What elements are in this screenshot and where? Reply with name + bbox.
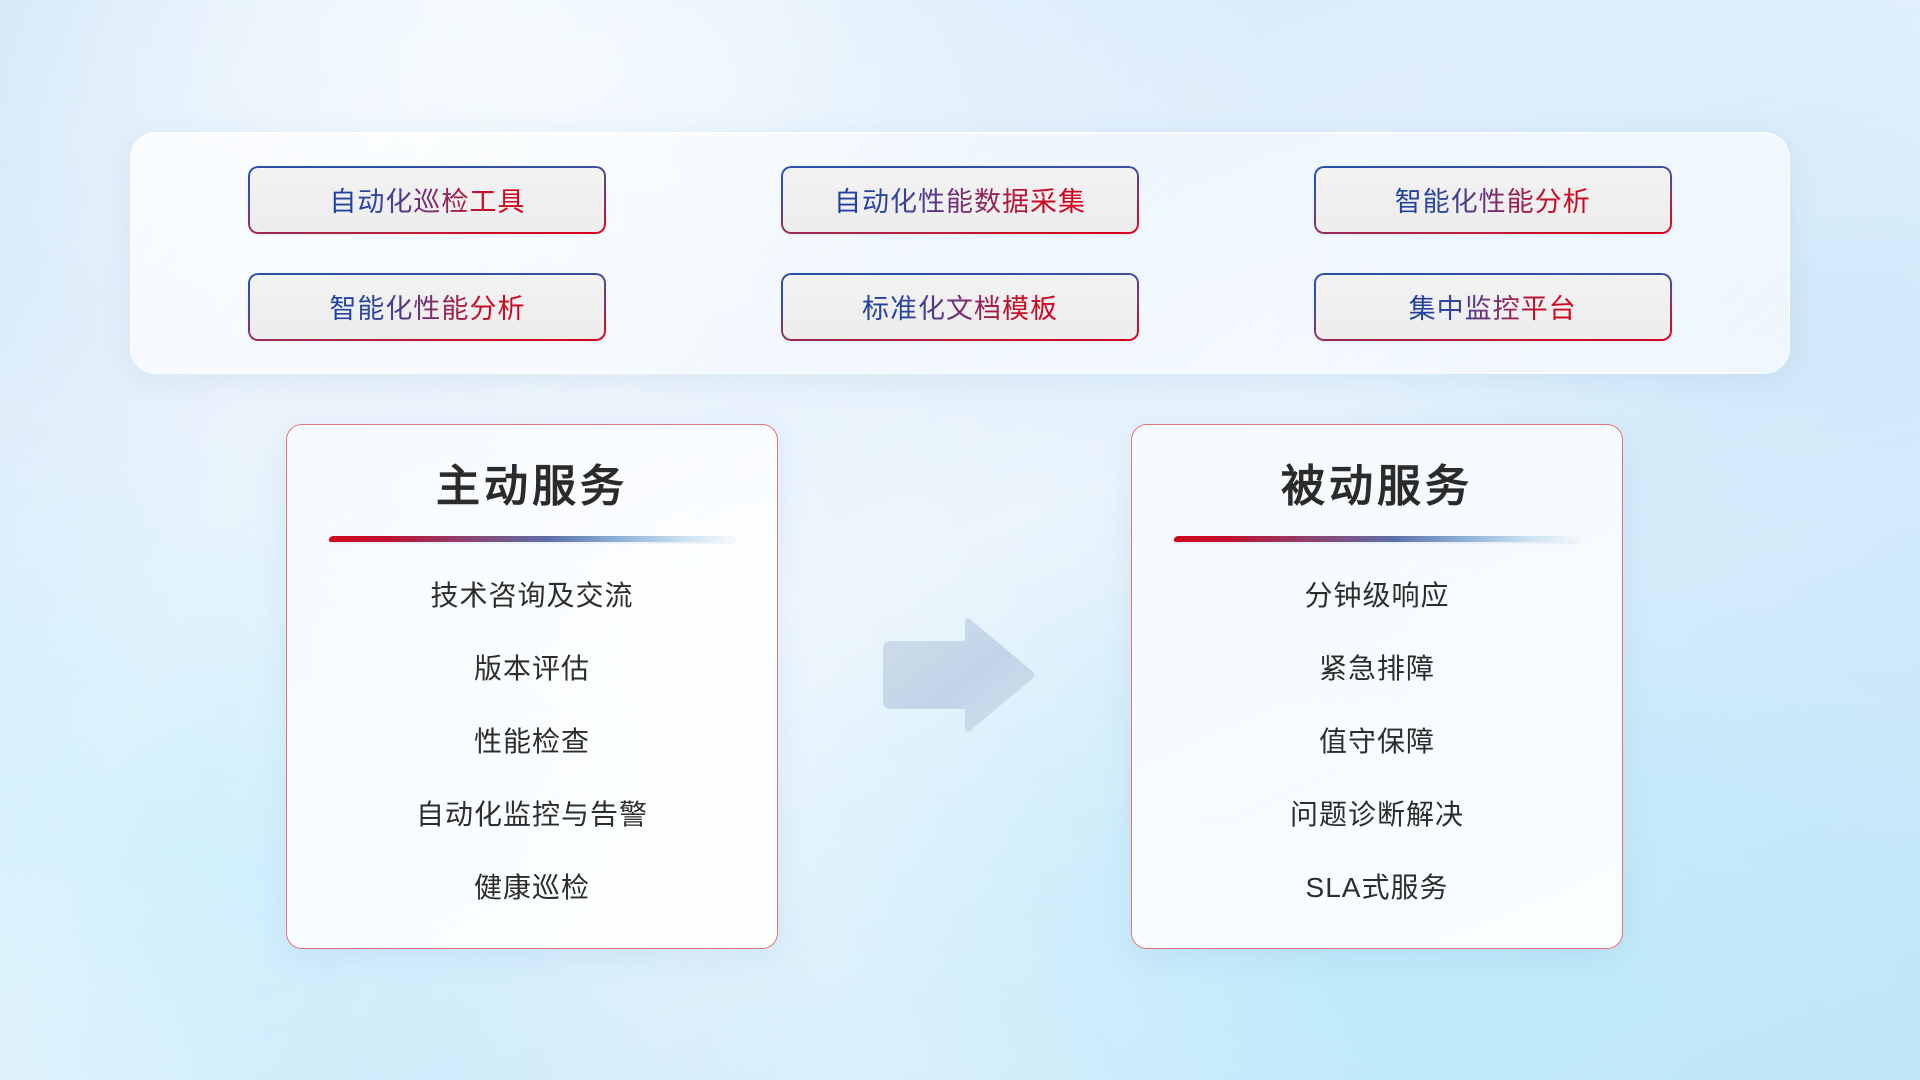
card-item-list: 技术咨询及交流 版本评估 性能检查 自动化监控与告警 健康巡检	[327, 582, 737, 902]
capability-pill-label: 自动化巡检工具	[329, 180, 525, 219]
capability-pill-intelligent-performance-analysis-b[interactable]: 智能化性能分析	[248, 273, 606, 341]
card-reactive-service[interactable]: 被动服务 分钟级响应 紧急排障 值守保障 问题诊断解决 SLA式服务	[1131, 424, 1623, 949]
card-title: 主动服务	[327, 461, 737, 514]
card-divider	[328, 536, 736, 542]
list-item: 问题诊断解决	[1172, 801, 1582, 829]
list-item: 性能检查	[327, 728, 737, 756]
card-title: 被动服务	[1172, 461, 1582, 514]
list-item: 自动化监控与告警	[327, 801, 737, 829]
card-proactive-service[interactable]: 主动服务 技术咨询及交流 版本评估 性能检查 自动化监控与告警 健康巡检	[286, 424, 778, 949]
card-divider	[1173, 536, 1581, 542]
capability-pill-label: 标准化文档模板	[862, 287, 1058, 326]
capability-pill-centralized-monitoring-platform[interactable]: 集中监控平台	[1314, 273, 1672, 341]
list-item: 值守保障	[1172, 728, 1582, 756]
list-item: 紧急排障	[1172, 655, 1582, 683]
card-item-list: 分钟级响应 紧急排障 值守保障 问题诊断解决 SLA式服务	[1172, 582, 1582, 902]
list-item: SLA式服务	[1172, 874, 1582, 902]
right-arrow-icon	[877, 615, 1037, 735]
capability-pill-standardized-doc-template[interactable]: 标准化文档模板	[781, 273, 1139, 341]
capability-pill-automated-inspection-tool[interactable]: 自动化巡检工具	[248, 166, 606, 234]
capability-pill-intelligent-performance-analysis-a[interactable]: 智能化性能分析	[1314, 166, 1672, 234]
capability-pill-label: 智能化性能分析	[329, 287, 525, 326]
slide-canvas: 自动化巡检工具 自动化性能数据采集 智能化性能分析 智能化性能分析 标准化文档模…	[0, 0, 1920, 1080]
list-item: 技术咨询及交流	[327, 582, 737, 610]
capability-pill-automated-performance-data-collection[interactable]: 自动化性能数据采集	[781, 166, 1139, 234]
list-item: 分钟级响应	[1172, 582, 1582, 610]
capability-pill-label: 集中监控平台	[1409, 287, 1577, 326]
capabilities-panel: 自动化巡检工具 自动化性能数据采集 智能化性能分析 智能化性能分析 标准化文档模…	[130, 132, 1790, 374]
capability-pill-label: 智能化性能分析	[1395, 180, 1591, 219]
list-item: 健康巡检	[327, 874, 737, 902]
capability-pill-label: 自动化性能数据采集	[834, 180, 1086, 219]
list-item: 版本评估	[327, 655, 737, 683]
